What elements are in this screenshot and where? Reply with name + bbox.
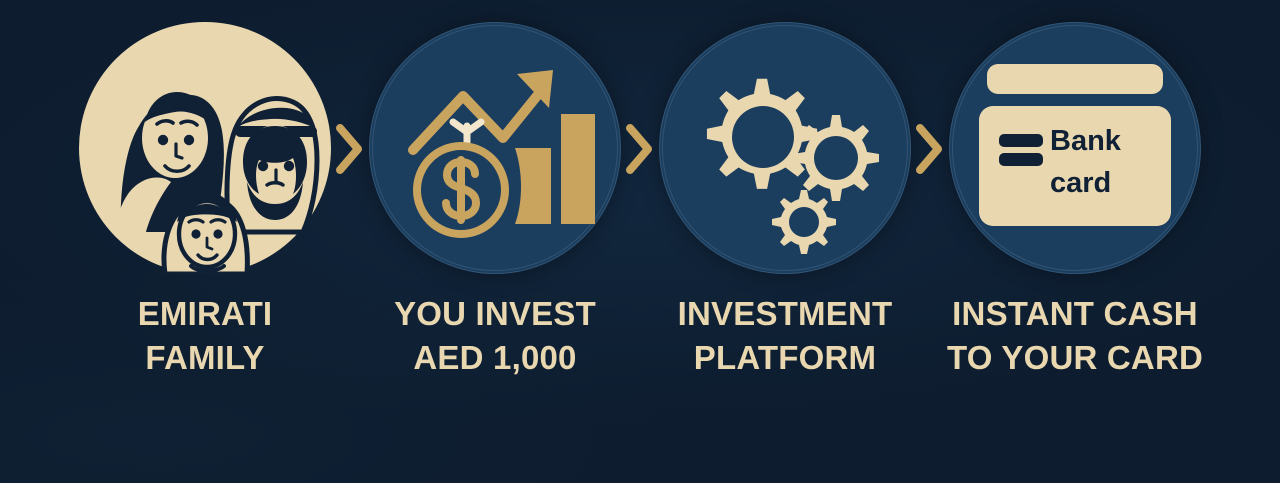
step-label-line2: FAMILY xyxy=(138,336,273,380)
step-label-instant-cash: INSTANT CASH TO YOUR CARD xyxy=(947,292,1203,380)
step-label-line2: PLATFORM xyxy=(678,336,893,380)
chevron-right-icon xyxy=(332,122,366,176)
step-label-line2: AED 1,000 xyxy=(394,336,596,380)
chevron-right-icon xyxy=(912,122,946,176)
flow-step-instant-cash[interactable]: Bank card INSTANT CASH TO YOUR CARD xyxy=(930,0,1220,380)
icon-circle-you-invest xyxy=(369,22,621,274)
step-label-line1: INVESTMENT xyxy=(678,295,893,332)
gears-icon xyxy=(659,22,911,274)
step-label-line1: EMIRATI xyxy=(138,295,273,332)
step-label-line1: YOU INVEST xyxy=(394,295,596,332)
flow-step-investment-platform[interactable]: INVESTMENT PLATFORM xyxy=(640,0,930,380)
flow-step-emirati-family[interactable]: EMIRATI FAMILY xyxy=(60,0,350,380)
flow-step-you-invest[interactable]: YOU INVEST AED 1,000 xyxy=(350,0,640,380)
step-label-line2: TO YOUR CARD xyxy=(947,336,1203,380)
icon-circle-investment-platform xyxy=(659,22,911,274)
bank-card-icon: Bank card xyxy=(949,22,1201,274)
investment-growth-chart-icon xyxy=(369,22,621,274)
step-label-emirati-family: EMIRATI FAMILY xyxy=(138,292,273,380)
step-label-you-invest: YOU INVEST AED 1,000 xyxy=(394,292,596,380)
icon-circle-emirati-family xyxy=(79,22,331,274)
step-label-line1: INSTANT CASH xyxy=(952,295,1198,332)
icon-circle-instant-cash: Bank card xyxy=(949,22,1201,274)
chevron-right-icon xyxy=(622,122,656,176)
process-flow-diagram: EMIRATI FAMILY xyxy=(0,0,1280,483)
step-label-investment-platform: INVESTMENT PLATFORM xyxy=(678,292,893,380)
emirati-family-icon xyxy=(79,22,331,274)
bank-card-text-line2: card xyxy=(1050,167,1111,199)
bank-card-text-line1: Bank xyxy=(1050,125,1122,157)
